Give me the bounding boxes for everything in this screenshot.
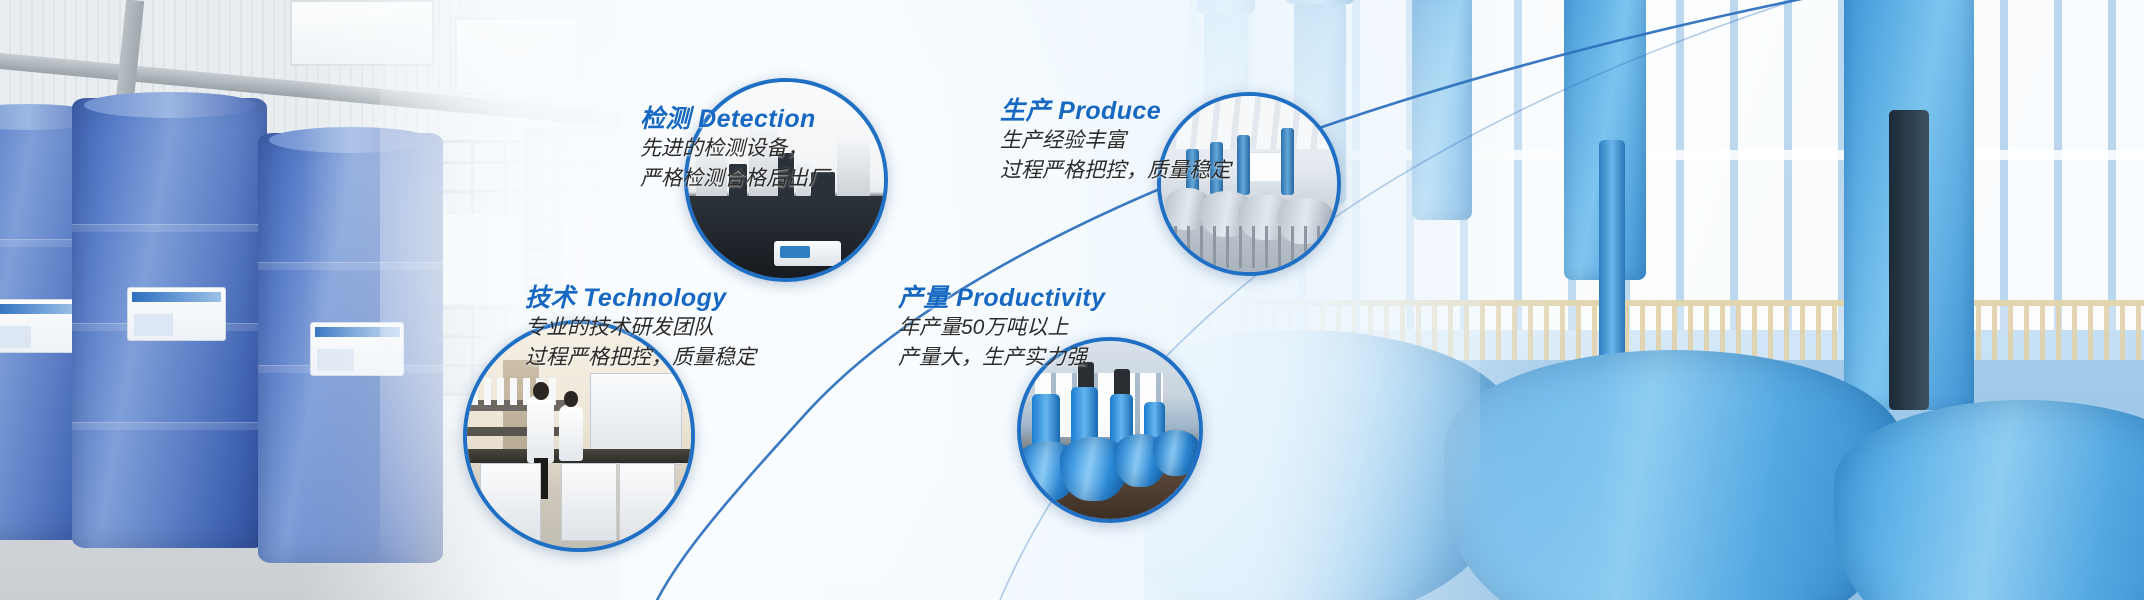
feature-line-2: 过程严格把控，质量稳定 [525,343,845,373]
feature-block-productivity: 产量 Productivity 年产量50万吨以上 产量大，生产实力强 [898,283,1218,373]
feature-line-1: 生产经验丰富 [1000,126,1300,156]
feature-block-detection: 检测 Detection 先进的检测设备， 严格检测合格后出厂 [640,104,960,194]
feature-title-detection: 检测 Detection [640,104,960,134]
feature-block-technology: 技术 Technology 专业的技术研发团队 过程严格把控，质量稳定 [525,283,845,373]
feature-line-2: 严格检测合格后出厂 [640,164,960,194]
feature-title-produce: 生产 Produce [1000,96,1300,126]
blue-drum [72,98,267,548]
feature-line-1: 先进的检测设备， [640,134,960,164]
feature-title-cn: 生产 [1000,97,1051,125]
feature-line-1: 专业的技术研发团队 [525,313,845,343]
feature-line-2: 过程严格把控，质量稳定 [1000,156,1300,186]
feature-title-productivity: 产量 Productivity [898,283,1218,313]
feature-title-cn: 产量 [898,284,949,312]
feature-line-1: 年产量50万吨以上 [898,313,1218,343]
feature-title-en: Productivity [956,284,1105,312]
feature-title-cn: 技术 [525,284,576,312]
feature-title-en: Detection [698,105,816,133]
mixer-shaft [1889,110,1929,410]
feature-title-en: Technology [583,284,726,312]
feature-line-2: 产量大，生产实力强 [898,343,1218,373]
feature-block-produce: 生产 Produce 生产经验丰富 过程严格把控，质量稳定 [1000,96,1300,186]
feature-title-en: Produce [1058,97,1161,125]
reactor-vessel [1834,400,2144,600]
feature-title-technology: 技术 Technology [525,283,845,313]
mixer-shaft [1599,140,1625,370]
company-strengths-banner: 检测 Detection 先进的检测设备， 严格检测合格后出厂 生产 Produ… [0,0,2144,600]
feature-title-cn: 检测 [640,105,691,133]
